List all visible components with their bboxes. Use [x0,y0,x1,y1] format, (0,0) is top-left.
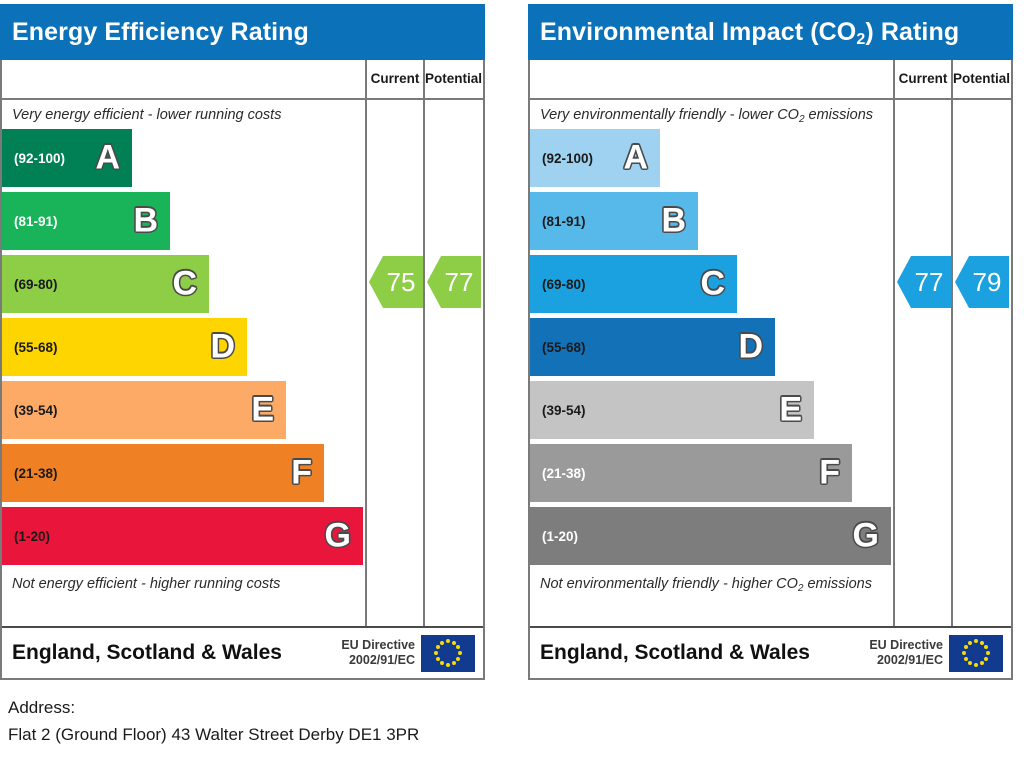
footer-directive-line2: 2002/91/EC [341,653,415,668]
band-letter-label: B [133,203,158,237]
band-e: (39-54)E [530,381,814,439]
column-header-current: Current [365,60,423,98]
band-c: (69-80)C [2,255,209,313]
eu-flag-star [986,651,990,655]
eu-flag-star [968,661,972,665]
energy-current-rating-arrow: 75 [369,256,423,308]
band-f: (21-38)F [2,444,324,502]
eu-flag-star [452,661,456,665]
eu-flag-star [984,657,988,661]
band-range-label: (92-100) [530,151,593,166]
band-letter-label: C [172,266,197,300]
footer-directive-text: EU Directive 2002/91/EC [869,638,949,668]
band-range-label: (69-80) [2,277,58,292]
energy-efficiency-chart: Energy Efficiency Rating Current Potenti… [0,4,485,680]
band-range-label: (81-91) [530,214,586,229]
energy-efficiency-top-caption: Very energy efficient - lower running co… [2,100,483,129]
band-d: (55-68)D [530,318,775,376]
epc-charts-row: Energy Efficiency Rating Current Potenti… [0,0,1024,684]
band-letter-label: A [95,140,120,174]
column-divider-2 [951,100,953,678]
eu-flag-star [964,645,968,649]
address-value: Flat 2 (Ground Floor) 43 Walter Street D… [8,721,419,748]
eu-flag-star [456,657,460,661]
eu-flag-star [440,661,444,665]
column-divider-1 [893,100,895,678]
eu-flag-star [964,657,968,661]
band-letter-label: B [661,203,686,237]
eu-flag-star [456,645,460,649]
band-f: (21-38)F [530,444,852,502]
eu-flag-star [458,651,462,655]
environmental-impact-body: Current Potential Very environmentally f… [528,60,1013,680]
column-header-row: Current Potential [2,60,483,100]
eu-flag-star [452,641,456,645]
eu-flag-star [446,663,450,667]
co2-potential-rating-arrow: 79 [955,256,1009,308]
footer-directive-line1: EU Directive [869,638,943,653]
band-e: (39-54)E [2,381,286,439]
energy-potential-rating-arrow: 77 [427,256,481,308]
environmental-impact-footer: England, Scotland & Wales EU Directive 2… [530,626,1011,678]
band-range-label: (1-20) [530,529,578,544]
energy-efficiency-footer: England, Scotland & Wales EU Directive 2… [2,626,483,678]
footer-directive-text: EU Directive 2002/91/EC [341,638,421,668]
column-header-potential: Potential [951,60,1010,98]
energy-efficiency-bottom-caption: Not energy efficient - higher running co… [2,569,483,598]
band-letter-label: D [210,329,235,363]
address-block: Address: Flat 2 (Ground Floor) 43 Walter… [8,694,419,748]
band-range-label: (92-100) [2,151,65,166]
column-header-spacer [530,60,893,98]
band-range-label: (39-54) [2,403,58,418]
eu-flag-star [434,651,438,655]
band-range-label: (81-91) [2,214,58,229]
band-range-label: (55-68) [530,340,586,355]
band-letter-label: E [251,392,274,426]
footer-region-label: England, Scotland & Wales [2,641,341,665]
eu-flag-star [980,661,984,665]
eu-flag-star [980,641,984,645]
eu-flag-star [962,651,966,655]
energy-efficiency-bands: (92-100)A(81-91)B(69-80)C(55-68)D(39-54)… [2,129,365,569]
band-letter-label: D [738,329,763,363]
band-range-label: (55-68) [2,340,58,355]
band-range-label: (21-38) [530,466,586,481]
band-range-label: (1-20) [2,529,50,544]
energy-efficiency-body: Current Potential Very energy efficient … [0,60,485,680]
eu-flag-icon [949,635,1003,672]
band-letter-label: G [325,518,351,552]
address-label: Address: [8,694,419,721]
band-g: (1-20)G [530,507,891,565]
column-header-potential: Potential [423,60,482,98]
band-c: (69-80)C [530,255,737,313]
band-g: (1-20)G [2,507,363,565]
column-divider-1 [365,100,367,678]
band-range-label: (21-38) [2,466,58,481]
eu-flag-star [968,641,972,645]
eu-flag-star [436,657,440,661]
band-b: (81-91)B [2,192,170,250]
band-b: (81-91)B [530,192,698,250]
band-letter-label: A [623,140,648,174]
environmental-impact-top-caption: Very environmentally friendly - lower CO… [530,100,1011,129]
column-header-spacer [2,60,365,98]
environmental-impact-chart: Environmental Impact (CO2) Rating Curren… [528,4,1013,680]
eu-flag-star [974,639,978,643]
environmental-impact-bottom-caption: Not environmentally friendly - higher CO… [530,569,1011,598]
eu-flag-star [436,645,440,649]
environmental-impact-bands: (92-100)A(81-91)B(69-80)C(55-68)D(39-54)… [530,129,893,569]
band-letter-label: F [291,455,312,489]
energy-efficiency-title: Energy Efficiency Rating [0,4,485,60]
environmental-impact-title: Environmental Impact (CO2) Rating [528,4,1013,60]
band-a: (92-100)A [2,129,132,187]
co2-current-rating-arrow: 77 [897,256,951,308]
band-range-label: (69-80) [530,277,586,292]
column-header-current: Current [893,60,951,98]
column-divider-2 [423,100,425,678]
column-header-row: Current Potential [530,60,1011,100]
band-d: (55-68)D [2,318,247,376]
footer-directive-line2: 2002/91/EC [869,653,943,668]
eu-flag-star [974,663,978,667]
footer-directive-line1: EU Directive [341,638,415,653]
band-letter-label: E [779,392,802,426]
band-letter-label: F [819,455,840,489]
band-a: (92-100)A [530,129,660,187]
eu-flag-icon [421,635,475,672]
eu-flag-star [984,645,988,649]
footer-region-label: England, Scotland & Wales [530,641,869,665]
band-letter-label: C [700,266,725,300]
band-range-label: (39-54) [530,403,586,418]
eu-flag-star [440,641,444,645]
eu-flag-star [446,639,450,643]
band-letter-label: G [853,518,879,552]
